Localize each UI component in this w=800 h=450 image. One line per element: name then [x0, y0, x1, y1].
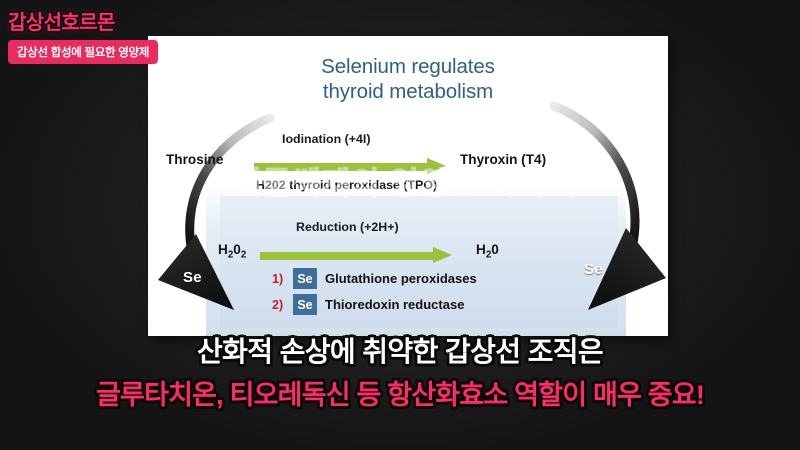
reduction-above-label: Reduction (+2H+) — [296, 220, 399, 234]
caption-line-2: 글루타치온, 티오레독신 등 항산화효소 역할이 매우 중요! — [0, 378, 800, 412]
video-subtitle-badge: 갑상선 합성에 필요한 영양제 — [8, 40, 158, 64]
reduction-substrate: H202 — [218, 242, 246, 261]
video-frame: Selenium regulates thyroid metabolism — [0, 0, 800, 450]
selenium-badge: Se — [293, 268, 317, 289]
video-title: 갑상선호르몬 — [8, 6, 158, 35]
iodination-arrow — [254, 160, 446, 173]
enzyme-item: 1) Se Glutathione peroxidases — [272, 267, 477, 290]
enzyme-number: 2) — [272, 298, 293, 312]
caption-line-1: 산화적 손상에 취약한 갑상선 조직은 — [0, 334, 800, 370]
iodination-product: Thyroxin (T4) — [460, 152, 546, 167]
iodination-below-label: H202 thyroid peroxidase (TPO) — [256, 178, 437, 192]
presentation-slide: Selenium regulates thyroid metabolism — [148, 36, 668, 336]
enzyme-item: 2) Se Thioredoxin reductase — [272, 293, 477, 316]
slide-title-line1: Selenium regulates — [148, 54, 668, 79]
slide-title-line2: thyroid metabolism — [148, 79, 668, 104]
enzyme-name: Glutathione peroxidases — [325, 271, 477, 286]
iodination-substrate: Throsine — [166, 152, 223, 167]
caption-block: 산화적 손상에 취약한 갑상선 조직은 글루타치온, 티오레독신 등 항산화효소… — [0, 334, 800, 412]
selenium-badge: Se — [293, 294, 317, 315]
enzyme-list: 1) Se Glutathione peroxidases 2) Se Thio… — [272, 267, 477, 319]
selenium-arrow-left — [150, 114, 280, 324]
slide-title: Selenium regulates thyroid metabolism — [148, 54, 668, 104]
enzyme-name: Thioredoxin reductase — [325, 297, 464, 312]
selenium-arrow-right-label: Se — [584, 261, 603, 278]
enzyme-number: 1) — [272, 272, 293, 286]
selenium-arrow-right — [540, 102, 668, 324]
reduction-product: H20 — [476, 242, 499, 261]
selenium-arrow-left-label: Se — [183, 269, 202, 286]
video-title-block: 갑상선호르몬 갑상선 합성에 필요한 영양제 — [8, 6, 158, 64]
reduction-arrow — [260, 249, 452, 262]
iodination-above-label: Iodination (+4I) — [282, 132, 370, 146]
